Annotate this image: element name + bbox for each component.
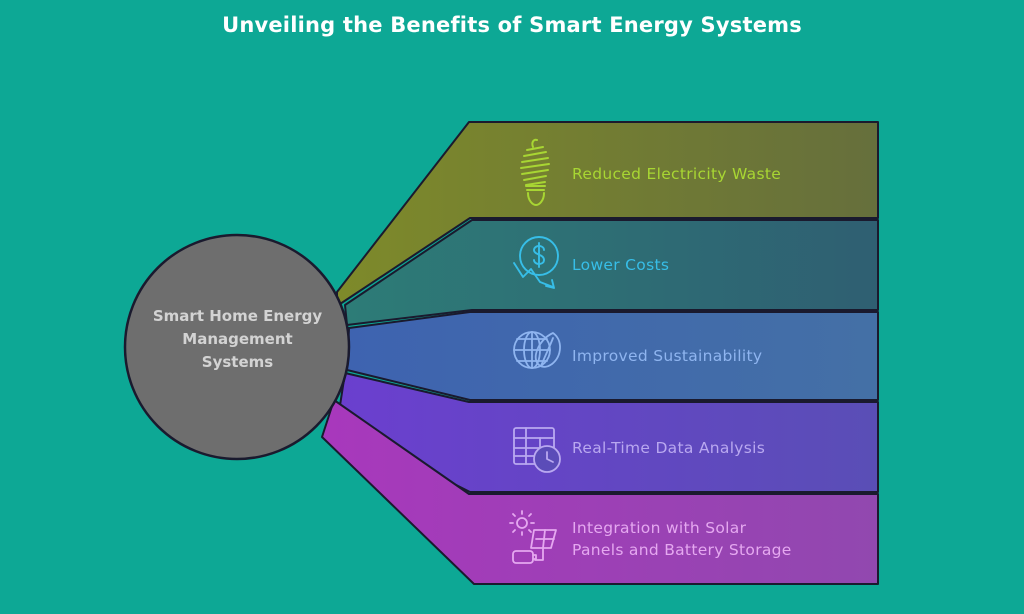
- funnel-diagram: [0, 0, 1024, 614]
- hub-circle[interactable]: [125, 235, 349, 459]
- infographic-canvas: Unveiling the Benefits of Smart Energy S…: [0, 0, 1024, 614]
- band-shape-improved-sustainability[interactable]: [347, 312, 878, 400]
